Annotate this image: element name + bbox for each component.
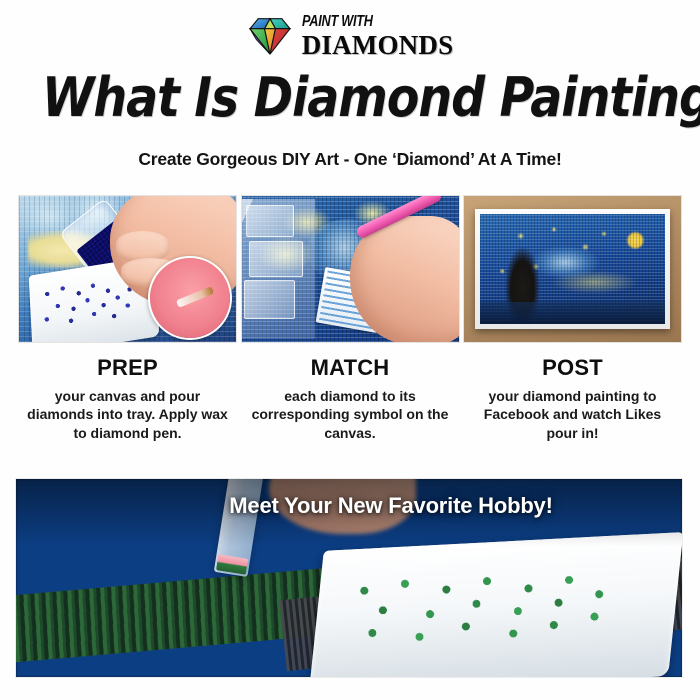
match-drill-baggies-group [242, 199, 316, 339]
post-white-frame [475, 209, 670, 329]
brand-line-diamonds: DIAMONDS [302, 32, 454, 59]
match-baggie-3 [244, 280, 295, 318]
steps-photo-row [18, 195, 682, 343]
page-title: What Is Diamond Painting? [42, 70, 658, 125]
page-subtitle: Create Gorgeous DIY Art - One ‘Diamond’ … [0, 149, 700, 170]
step-body-post: your diamond painting to Facebook and wa… [463, 387, 682, 442]
step-body-prep: your canvas and pour diamonds into tray.… [18, 387, 237, 442]
match-baggie-1 [246, 205, 294, 238]
infographic-page: PAINT WITH DIAMONDS What Is Diamond Pain… [0, 0, 700, 700]
banner-green-drills-in-tray [340, 562, 637, 656]
post-starry-night-canvas [480, 214, 665, 324]
step-photo-match [241, 195, 460, 343]
post-village-silhouette [480, 302, 665, 324]
step-photo-post [463, 195, 682, 343]
step-caption-post: POST your diamond painting to Facebook a… [463, 355, 682, 442]
prep-wax-inset-circle [148, 256, 232, 340]
match-baggie-2 [249, 241, 303, 277]
step-title-post: POST [463, 355, 682, 381]
banner-headline: Meet Your New Favorite Hobby! [16, 493, 682, 519]
step-title-prep: PREP [18, 355, 237, 381]
steps-caption-row: PREP your canvas and pour diamonds into … [18, 355, 682, 442]
brand-logo: PAINT WITH DIAMONDS [0, 14, 700, 59]
step-photo-prep [18, 195, 237, 343]
brand-wordmark: PAINT WITH DIAMONDS [302, 14, 454, 59]
brand-line-paint-with: PAINT WITH [302, 14, 426, 30]
step-caption-match: MATCH each diamond to its corresponding … [241, 355, 460, 442]
step-caption-prep: PREP your canvas and pour diamonds into … [18, 355, 237, 442]
step-title-match: MATCH [241, 355, 460, 381]
step-body-match: each diamond to its corresponding symbol… [241, 387, 460, 442]
banner-pen-tip-with-drills [217, 554, 249, 574]
bottom-banner: Meet Your New Favorite Hobby! [15, 478, 683, 678]
diamond-gem-icon [247, 16, 293, 56]
